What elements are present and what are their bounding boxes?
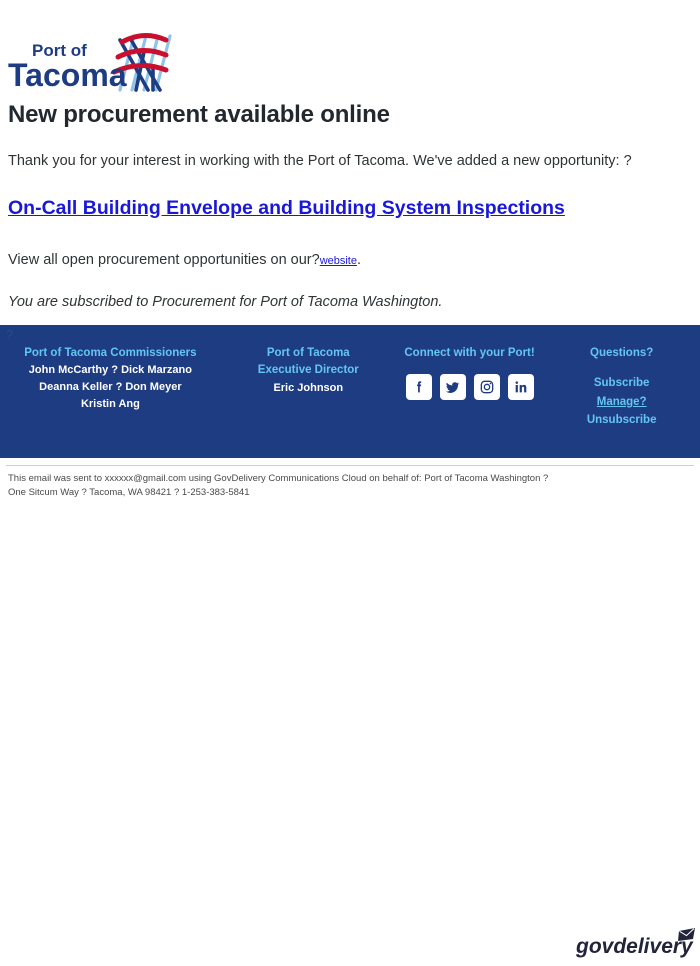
fineprint-divider xyxy=(6,465,694,466)
website-link[interactable]: website xyxy=(320,255,357,267)
port-of-tacoma-logo: Port of Tacoma xyxy=(8,26,188,94)
connect-heading: Connect with your Port! xyxy=(402,345,538,362)
footer-band: ? Port of Tacoma Commissioners John McCa… xyxy=(0,325,700,458)
instagram-icon xyxy=(479,379,495,395)
facebook-icon xyxy=(411,379,427,395)
twitter-icon xyxy=(444,379,461,396)
fineprint-line-2: One Sitcum Way ? Tacoma, WA 98421 ? 1-25… xyxy=(8,486,578,500)
linkedin-icon xyxy=(513,379,529,395)
director-heading-line-2: Executive Director xyxy=(227,362,390,379)
footer-column-director: Port of Tacoma Executive Director Eric J… xyxy=(221,345,396,397)
fineprint-text: This email was sent to xxxxxx@gmail.com … xyxy=(8,472,578,501)
footer-column-connect: Connect with your Port! xyxy=(396,345,544,400)
director-heading-line-1: Port of Tacoma xyxy=(227,345,390,362)
unsubscribe-link[interactable]: Unsubscribe xyxy=(549,411,694,429)
questions-spacer xyxy=(549,362,694,374)
page-title: New procurement available online xyxy=(8,102,694,128)
view-all-suffix: . xyxy=(357,252,361,268)
linkedin-link[interactable] xyxy=(508,374,534,400)
govdelivery-logo: govdelivery xyxy=(576,927,698,961)
intro-paragraph: Thank you for your interest in working w… xyxy=(8,150,688,172)
facebook-link[interactable] xyxy=(406,374,432,400)
commissioners-line-1: John McCarthy ? Dick Marzano xyxy=(6,362,215,379)
commissioners-line-3: Kristin Ang xyxy=(6,396,215,413)
envelope-icon xyxy=(678,928,695,941)
footer-column-questions: Questions? Subscribe Manage? Unsubscribe xyxy=(543,345,700,429)
email-page: Port of Tacoma New procurement available… xyxy=(0,0,700,508)
twitter-link[interactable] xyxy=(440,374,466,400)
email-body: New procurement available online Thank y… xyxy=(8,102,694,314)
subscribe-link[interactable]: Subscribe xyxy=(549,374,694,392)
opportunity-link[interactable]: On-Call Building Envelope and Building S… xyxy=(8,197,565,220)
commissioners-heading: Port of Tacoma Commissioners xyxy=(6,345,215,362)
questions-heading: Questions? xyxy=(549,345,694,362)
svg-text:Tacoma: Tacoma xyxy=(8,57,127,93)
view-all-prefix: View all open procurement opportunities … xyxy=(8,252,320,268)
view-all-line: View all open procurement opportunities … xyxy=(8,250,694,272)
footer-columns: Port of Tacoma Commissioners John McCart… xyxy=(0,345,700,429)
subscription-note: You are subscribed to Procurement for Po… xyxy=(8,292,694,314)
director-name: Eric Johnson xyxy=(227,380,390,397)
manage-preferences-link[interactable]: Manage? xyxy=(549,393,694,411)
fineprint-line-1: This email was sent to xxxxxx@gmail.com … xyxy=(8,472,578,486)
footer-column-commissioners: Port of Tacoma Commissioners John McCart… xyxy=(0,345,221,413)
social-icons-row xyxy=(402,374,538,400)
footer-artifact-glyph: ? xyxy=(6,327,13,342)
instagram-link[interactable] xyxy=(474,374,500,400)
svg-text:govdelivery: govdelivery xyxy=(576,935,694,958)
fineprint-area: This email was sent to xxxxxx@gmail.com … xyxy=(0,459,700,508)
commissioners-line-2: Deanna Keller ? Don Meyer xyxy=(6,379,215,396)
